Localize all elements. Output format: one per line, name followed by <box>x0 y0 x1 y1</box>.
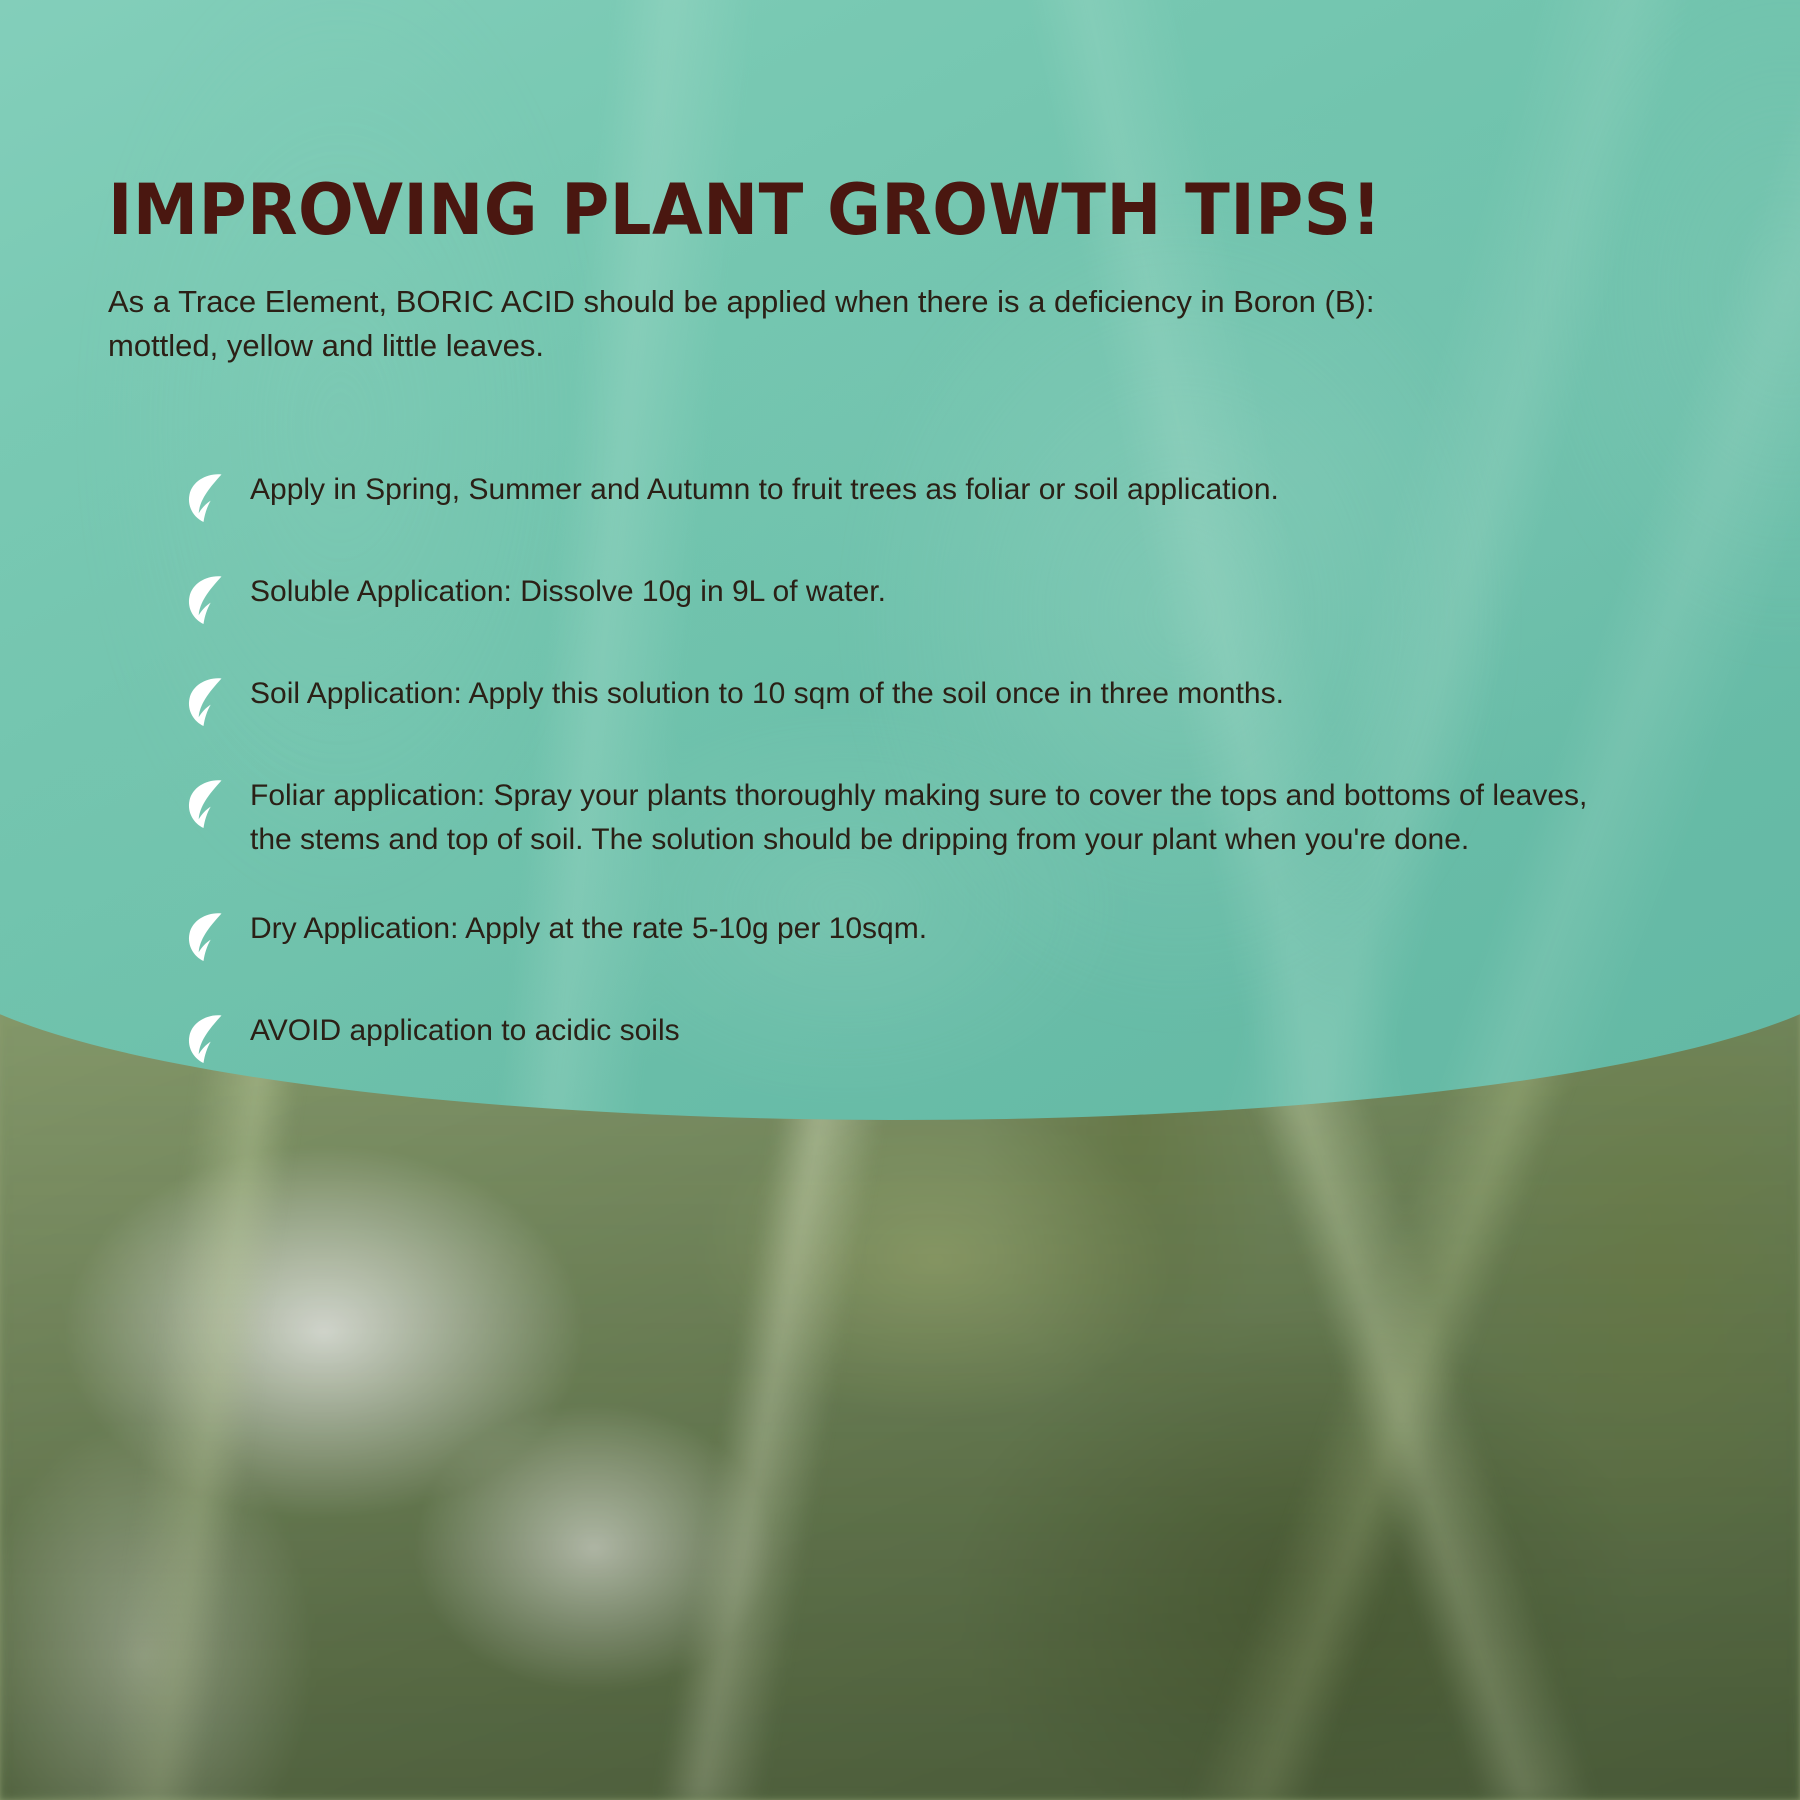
leaf-icon <box>180 1011 234 1067</box>
leaf-icon <box>180 572 234 628</box>
leaf-icon <box>180 470 234 526</box>
intro-paragraph: As a Trace Element, BORIC ACID should be… <box>108 280 1628 368</box>
list-item-label: Soil Application: Apply this solution to… <box>250 672 1284 716</box>
list-item: Foliar application: Spray your plants th… <box>180 774 1630 863</box>
tips-list: Apply in Spring, Summer and Autumn to fr… <box>180 468 1630 1111</box>
list-item-label: AVOID application to acidic soils <box>250 1009 680 1053</box>
intro-line-1: As a Trace Element, BORIC ACID should be… <box>108 280 1628 324</box>
page-title: IMPROVING PLANT GROWTH TIPS! <box>108 175 1382 245</box>
intro-line-2: mottled, yellow and little leaves. <box>108 324 1628 368</box>
list-item: Apply in Spring, Summer and Autumn to fr… <box>180 468 1630 526</box>
list-item-label: Soluble Application: Dissolve 10g in 9L … <box>250 570 886 614</box>
leaf-icon <box>180 909 234 965</box>
list-item-label: Dry Application: Apply at the rate 5-10g… <box>250 907 927 951</box>
leaf-icon <box>180 776 234 832</box>
list-item: Soil Application: Apply this solution to… <box>180 672 1630 730</box>
list-item-label: Foliar application: Spray your plants th… <box>250 774 1610 863</box>
leaf-icon <box>180 674 234 730</box>
list-item: AVOID application to acidic soils <box>180 1009 1630 1067</box>
list-item: Dry Application: Apply at the rate 5-10g… <box>180 907 1630 965</box>
list-item-label: Apply in Spring, Summer and Autumn to fr… <box>250 468 1279 512</box>
poster-canvas: IMPROVING PLANT GROWTH TIPS! As a Trace … <box>0 0 1800 1800</box>
list-item: Soluble Application: Dissolve 10g in 9L … <box>180 570 1630 628</box>
